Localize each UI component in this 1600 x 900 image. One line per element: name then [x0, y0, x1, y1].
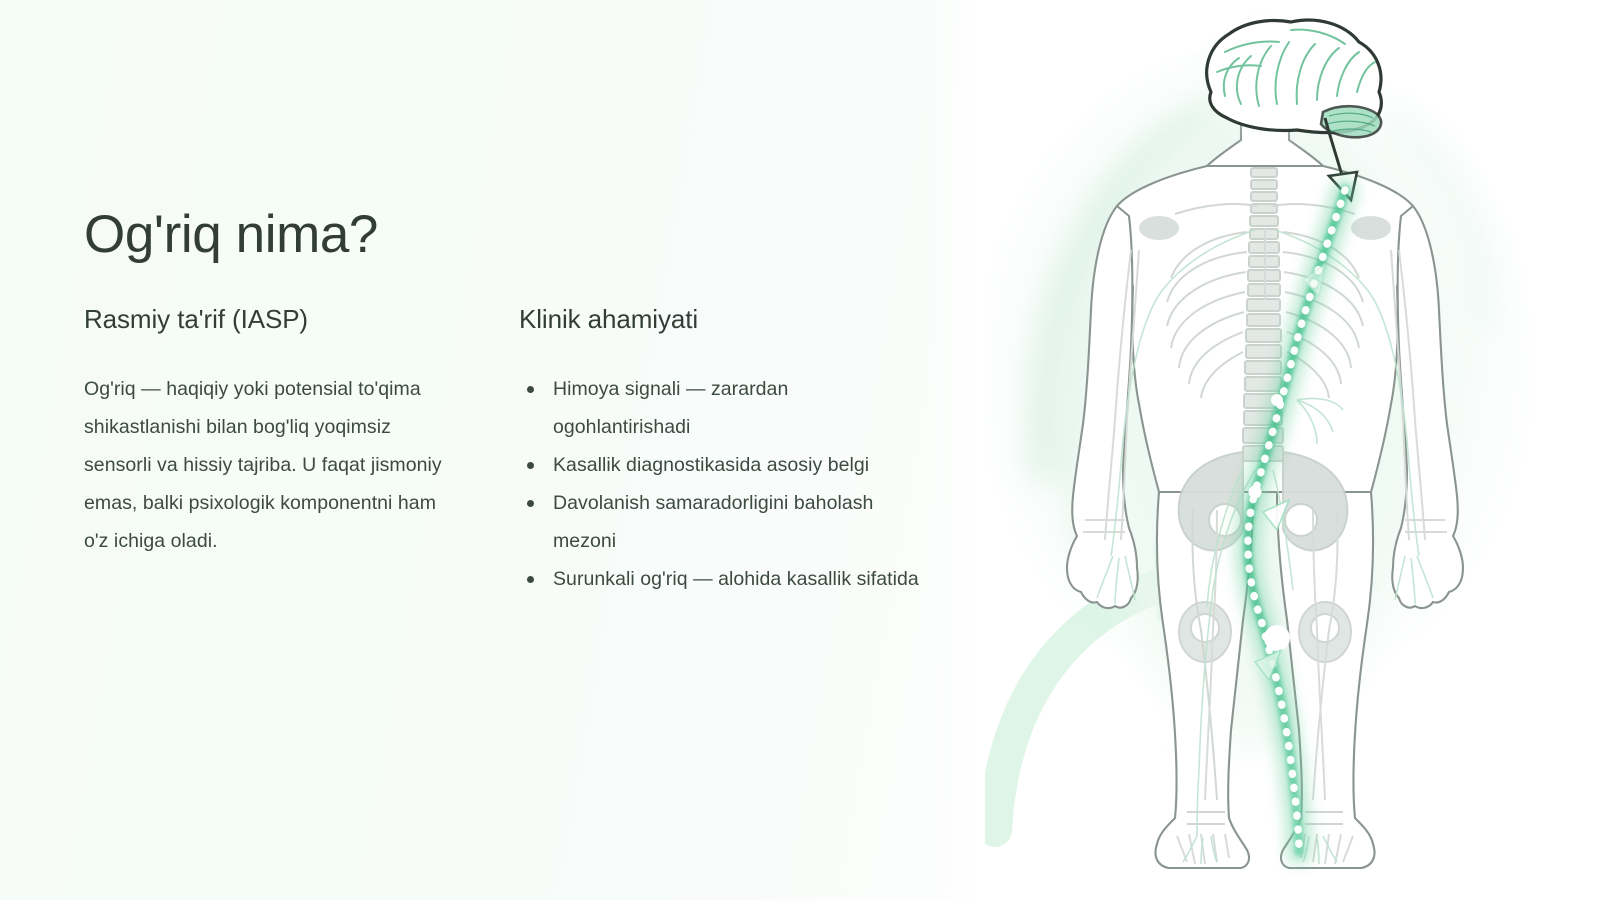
bullet-dot-icon [527, 576, 534, 583]
bullet-dot-icon [527, 500, 534, 507]
list-item: Surunkali og'riq — alohida kasallik sifa… [519, 560, 919, 598]
column-clinical: Klinik ahamiyati Himoya signali — zarard… [519, 303, 919, 598]
list-item: Himoya signali — zarardan ogohlantirisha… [519, 370, 919, 446]
bullet-dot-icon [527, 462, 534, 469]
list-item-label: Kasallik diagnostikasida asosiy belgi [553, 454, 869, 476]
illustration-panel [985, 0, 1600, 900]
bullet-dot-icon [527, 386, 534, 393]
page-title: Og'riq nima? [84, 206, 378, 264]
definition-paragraph: Og'riq — haqiqiy yoki potensial to'qima … [84, 370, 459, 560]
list-item-label: Himoya signali — zarardan ogohlantirisha… [553, 378, 788, 438]
column-definition: Rasmiy ta'rif (IASP) Og'riq — haqiqiy yo… [84, 303, 459, 560]
list-item: Kasallik diagnostikasida asosiy belgi [519, 446, 919, 484]
list-item: Davolanish samaradorligini baholash mezo… [519, 484, 919, 560]
slide: Og'riq nima? Rasmiy ta'rif (IASP) Og'riq… [0, 0, 1600, 900]
content-panel: Og'riq nima? Rasmiy ta'rif (IASP) Og'riq… [0, 0, 985, 900]
clinical-bullet-list: Himoya signali — zarardan ogohlantirisha… [519, 370, 919, 598]
list-item-label: Surunkali og'riq — alohida kasallik sifa… [553, 568, 919, 590]
clinical-heading: Klinik ahamiyati [519, 303, 919, 336]
list-item-label: Davolanish samaradorligini baholash mezo… [553, 492, 873, 552]
definition-heading: Rasmiy ta'rif (IASP) [84, 303, 459, 336]
human-body-illustration [985, 0, 1600, 900]
